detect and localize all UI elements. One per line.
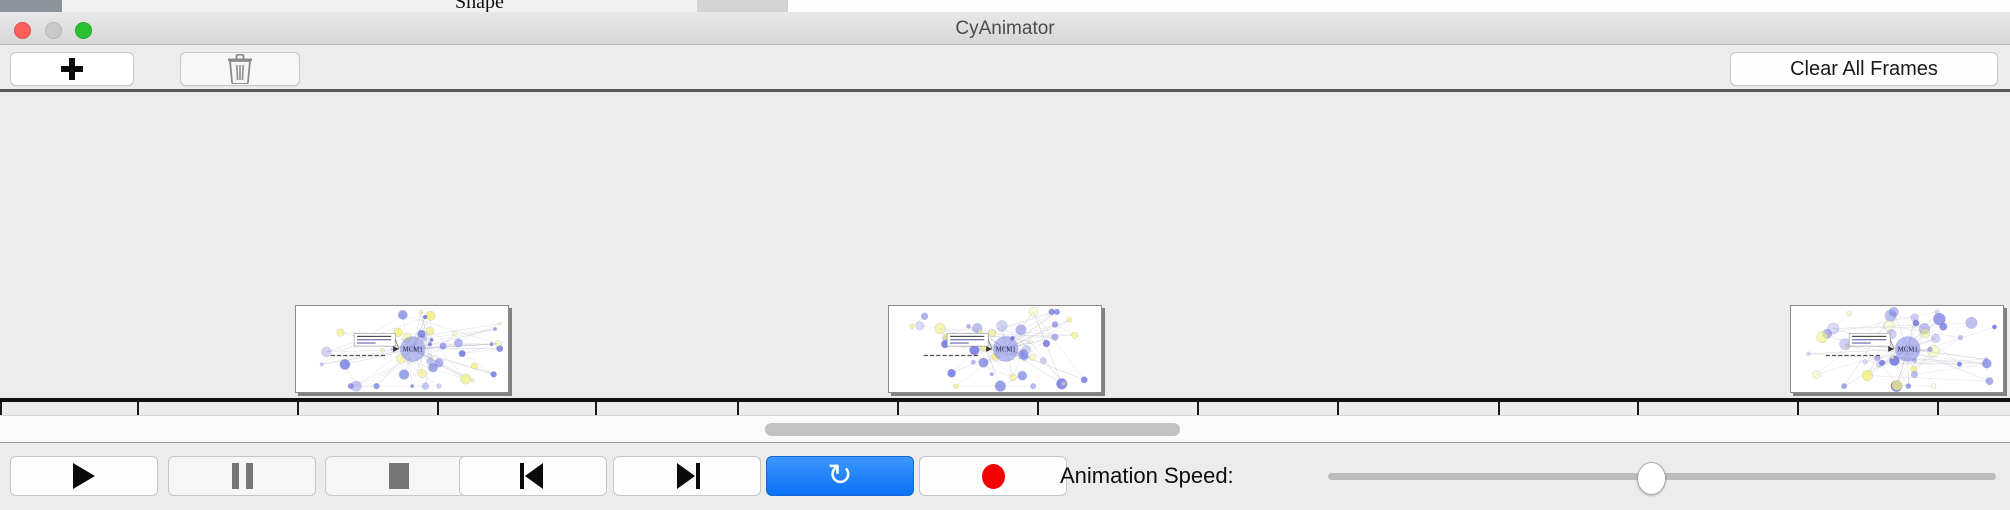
svg-text:MCM1: MCM1 [1898, 347, 1918, 354]
plus-icon [61, 58, 83, 80]
axis-tick-major [595, 402, 597, 415]
timeline-panel[interactable]: MCM1 MCM1 MCM1 12131415161718 Seconds [0, 92, 2010, 415]
timeline-axis [0, 398, 2010, 402]
axis-tick-minor [1337, 402, 1339, 415]
play-icon [73, 463, 95, 489]
network-graph-preview: MCM1 [889, 306, 1101, 392]
axis-tick-minor [1637, 402, 1639, 415]
timeline-scrollbar[interactable] [0, 415, 2010, 443]
scrollbar-thumb[interactable] [765, 423, 1180, 436]
pause-button[interactable] [168, 456, 316, 496]
svg-text:MCM1: MCM1 [996, 347, 1016, 354]
add-frame-button[interactable] [10, 52, 134, 86]
axis-tick-minor [1937, 402, 1939, 415]
play-button[interactable] [10, 456, 158, 496]
frame-thumbnail[interactable]: MCM1 [1790, 305, 2004, 393]
pause-icon [232, 463, 253, 489]
axis-tick-major [0, 402, 2, 415]
axis-tick-minor [1037, 402, 1039, 415]
svg-text:MCM1: MCM1 [403, 347, 423, 354]
record-icon [982, 464, 1005, 489]
axis-tick-major [897, 402, 899, 415]
skip-forward-icon [674, 463, 700, 489]
skip-to-start-button[interactable] [459, 456, 607, 496]
transport-bar: ↻ Animation Speed: [0, 443, 2010, 510]
frame-thumbnail[interactable]: MCM1 [295, 305, 509, 393]
trash-icon [227, 54, 253, 84]
window-title: CyAnimator [0, 12, 2010, 45]
background-window-sidebar [0, 0, 62, 12]
clear-all-frames-button[interactable]: Clear All Frames [1730, 52, 1998, 86]
loop-button[interactable]: ↻ [766, 456, 914, 496]
stop-icon [389, 463, 409, 489]
skip-back-icon [520, 463, 546, 489]
loop-icon: ↻ [827, 461, 852, 491]
title-bar: CyAnimator [0, 12, 2010, 45]
network-graph-preview: MCM1 [1791, 306, 2003, 392]
cyanimator-window: Shape CyAnimator Clear All Frames MC [0, 0, 2010, 510]
animation-speed-label: Animation Speed: [1060, 456, 1234, 496]
axis-tick-minor [437, 402, 439, 415]
skip-to-end-button[interactable] [613, 456, 761, 496]
frame-thumbnail[interactable]: MCM1 [888, 305, 1102, 393]
toolbar: Clear All Frames [0, 45, 2010, 89]
network-graph-preview: MCM1 [296, 306, 508, 392]
stop-button[interactable] [325, 456, 473, 496]
axis-tick-major [297, 402, 299, 415]
record-button[interactable] [919, 456, 1067, 496]
delete-frame-button[interactable] [180, 52, 300, 86]
axis-tick-major [1197, 402, 1199, 415]
axis-tick-major [1498, 402, 1500, 415]
axis-tick-major [1797, 402, 1799, 415]
axis-tick-minor [737, 402, 739, 415]
axis-tick-minor [137, 402, 139, 415]
animation-speed-slider-thumb[interactable] [1637, 462, 1666, 495]
